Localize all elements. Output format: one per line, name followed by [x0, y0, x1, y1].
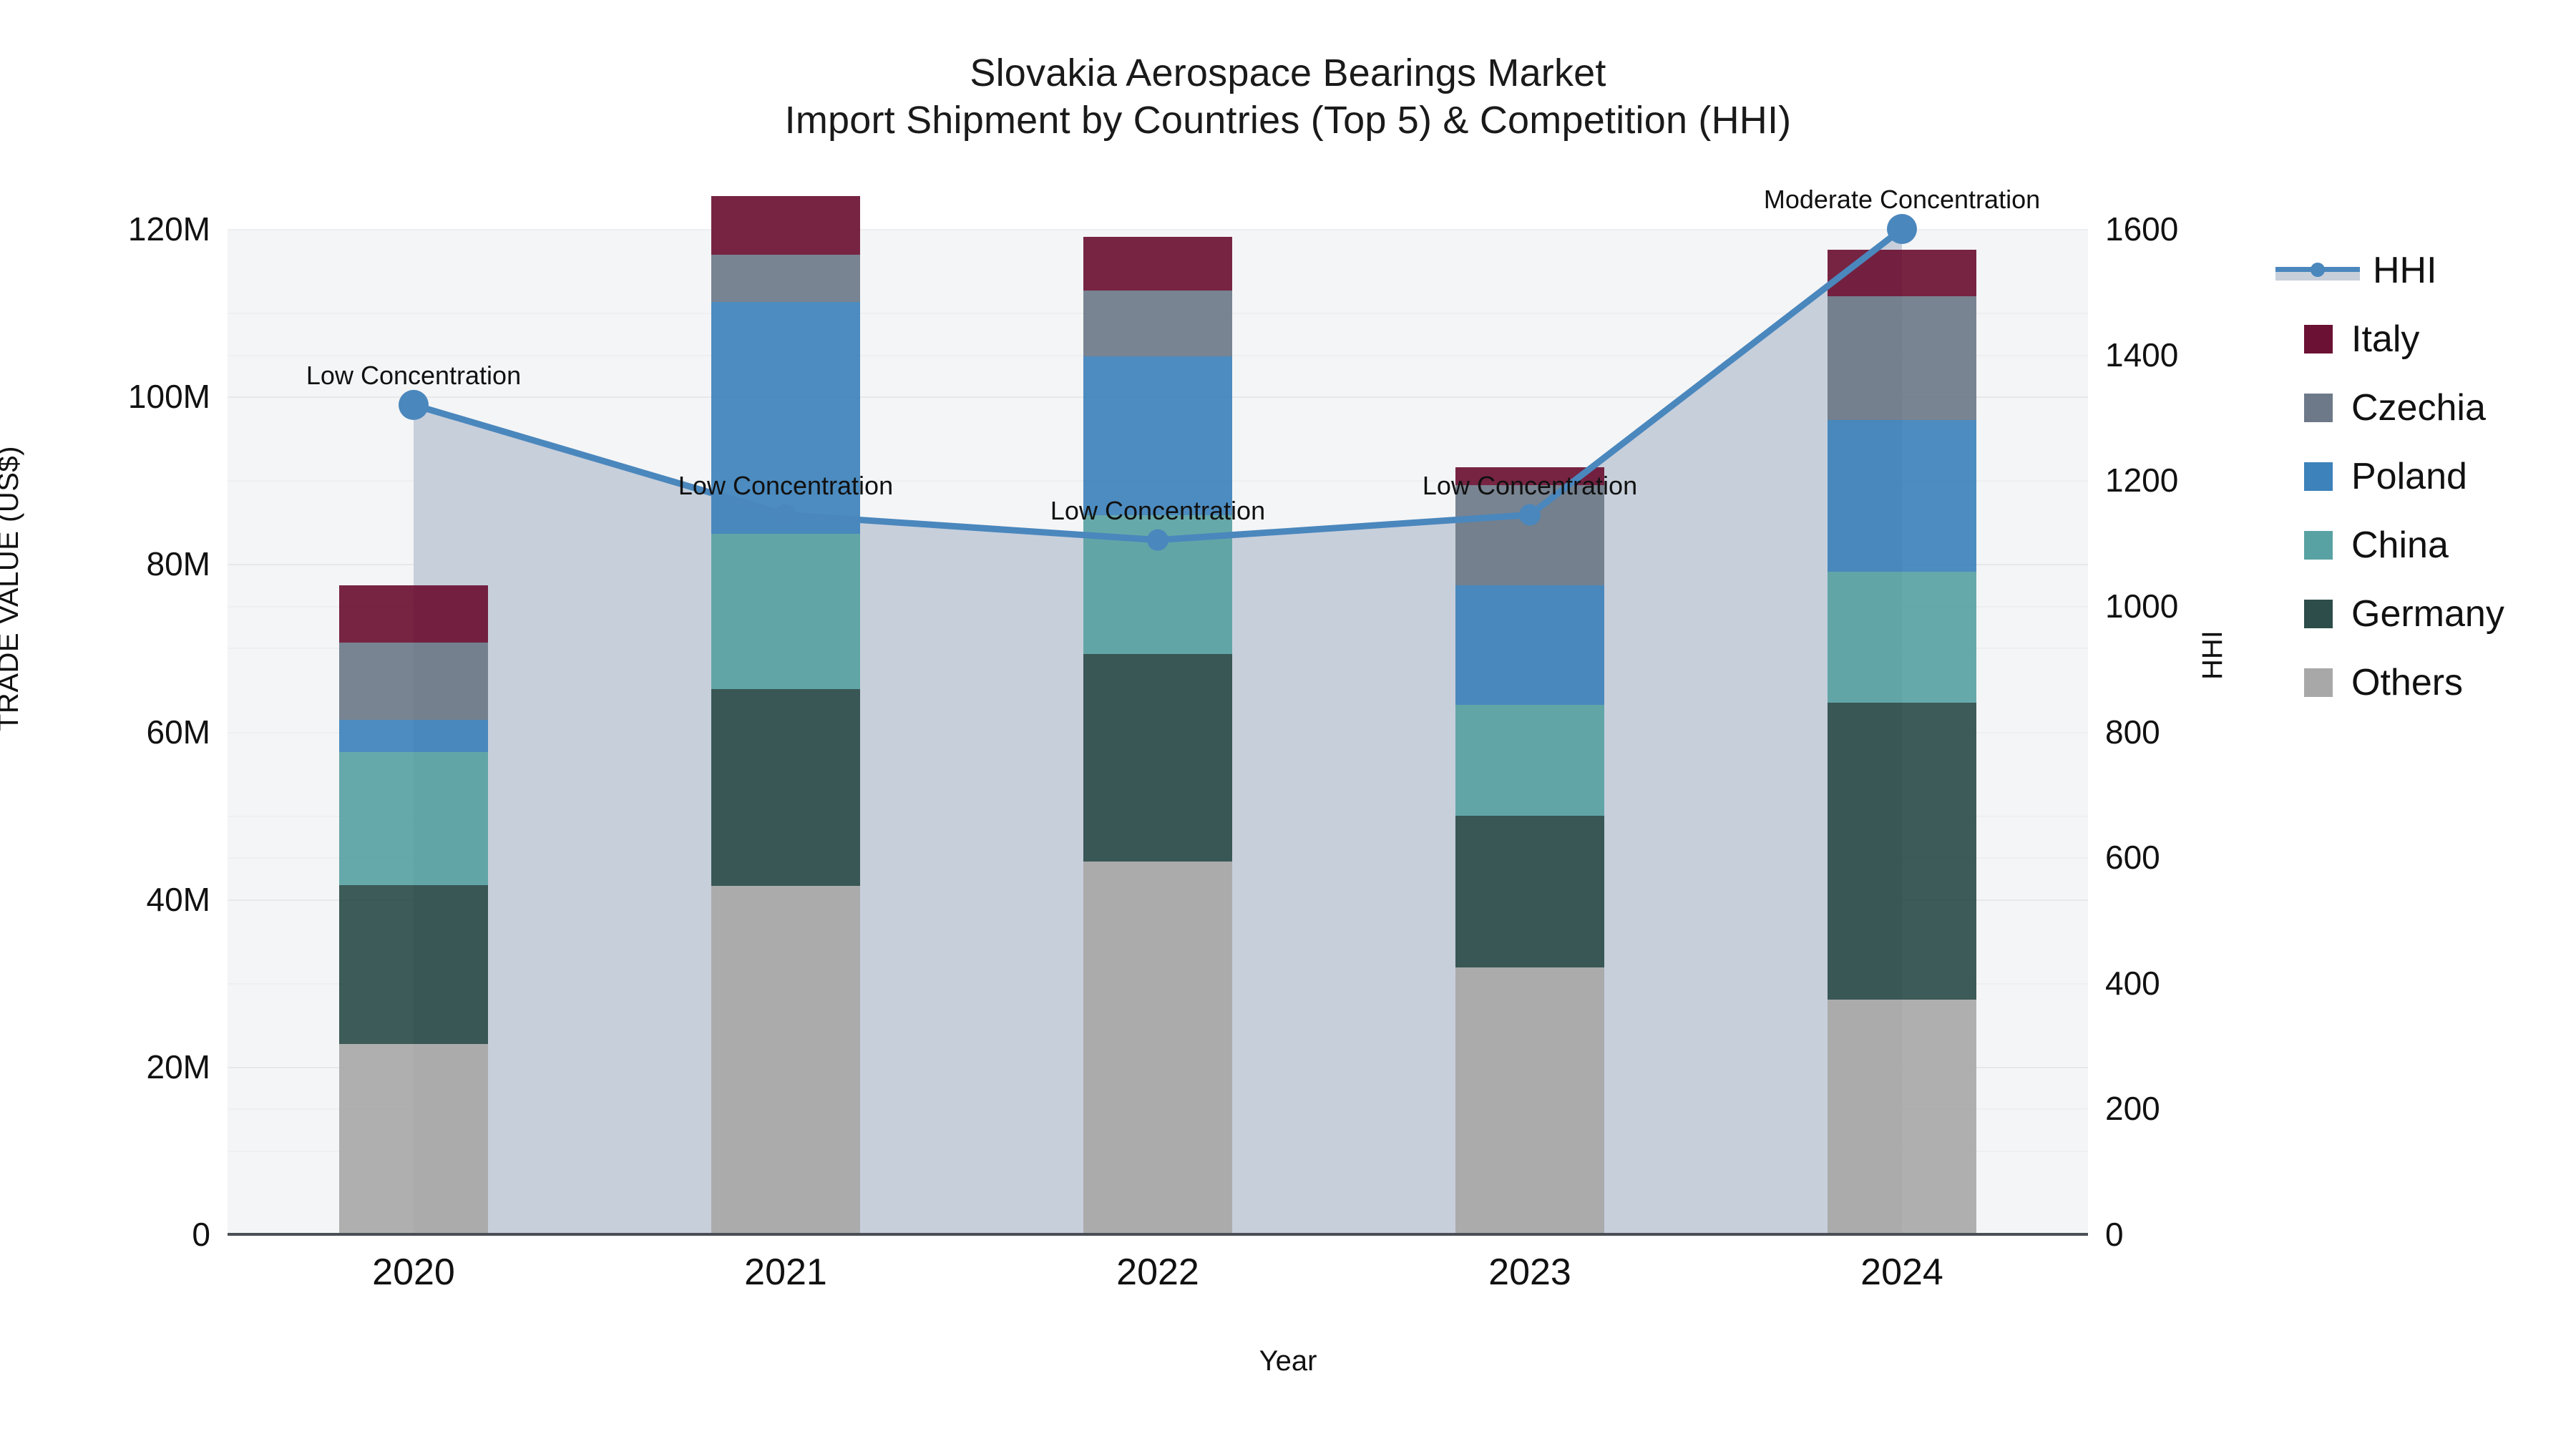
annotation-2020: Low Concentration: [306, 361, 521, 391]
annotation-2021: Low Concentration: [678, 471, 893, 501]
legend-item-label: Italy: [2351, 318, 2419, 361]
bar-segment-italy[interactable]: [1828, 250, 1976, 296]
legend-item-germany[interactable]: Germany: [2275, 580, 2562, 648]
y-axis-left-tick-label: 60M: [0, 713, 210, 751]
legend-item-label: China: [2351, 524, 2449, 567]
bar-segment-czechia[interactable]: [339, 643, 488, 720]
bar-segment-poland[interactable]: [1455, 585, 1604, 705]
legend-item-poland[interactable]: Poland: [2275, 442, 2562, 511]
legend-item-label: Germany: [2351, 592, 2504, 635]
bar-segment-czechia[interactable]: [1828, 296, 1976, 420]
bar-segment-germany[interactable]: [1455, 816, 1604, 967]
annotation-2023: Low Concentration: [1423, 471, 1637, 501]
bar-segment-china[interactable]: [1455, 705, 1604, 816]
chart-title: Slovakia Aerospace Bearings Market Impor…: [0, 50, 2576, 145]
legend-item-label: HHI: [2373, 249, 2437, 292]
y-axis-right-tick-label: 200: [2105, 1089, 2160, 1128]
y-axis-right-title: HHI: [2197, 630, 2229, 680]
legend-item-hhi[interactable]: HHI: [2275, 236, 2562, 305]
x-axis-tick-label-2023: 2023: [1488, 1251, 1571, 1294]
stacked-bar-2023[interactable]: [1455, 467, 1604, 1234]
stacked-bar-2022[interactable]: [1083, 237, 1232, 1234]
chart-legend: HHIItalyCzechiaPolandChinaGermanyOthers: [2275, 236, 2562, 717]
y-axis-left-title: TRADE VALUE (US$): [0, 446, 25, 731]
bar-segment-china[interactable]: [711, 534, 860, 689]
y-axis-right-tick-label: 600: [2105, 838, 2160, 877]
legend-color-swatch: [2304, 325, 2333, 353]
annotation-2022: Low Concentration: [1050, 496, 1265, 526]
bar-segment-italy[interactable]: [711, 196, 860, 255]
bar-segment-china[interactable]: [1828, 572, 1976, 703]
legend-item-label: Czechia: [2351, 386, 2486, 429]
stacked-bar-2020[interactable]: [339, 585, 488, 1234]
bar-segment-china[interactable]: [1083, 515, 1232, 653]
legend-color-swatch: [2304, 668, 2333, 697]
bar-segment-others[interactable]: [1083, 862, 1232, 1234]
bar-segment-others[interactable]: [1455, 967, 1604, 1234]
bar-segment-others[interactable]: [1828, 1000, 1976, 1234]
y-axis-right-tick-label: 0: [2105, 1215, 2124, 1254]
x-axis-title: Year: [0, 1345, 2576, 1377]
legend-item-china[interactable]: China: [2275, 511, 2562, 580]
bar-segment-poland[interactable]: [1828, 420, 1976, 572]
legend-item-italy[interactable]: Italy: [2275, 305, 2562, 374]
y-axis-right-tick-label: 1400: [2105, 336, 2178, 374]
legend-line-swatch: [2275, 256, 2360, 285]
x-axis-tick-label-2022: 2022: [1116, 1251, 1199, 1294]
x-axis-tick-label-2020: 2020: [372, 1251, 455, 1294]
y-axis-left-tick-label: 80M: [0, 545, 210, 583]
bar-segment-others[interactable]: [711, 886, 860, 1234]
bar-segment-china[interactable]: [339, 752, 488, 885]
legend-item-label: Others: [2351, 661, 2463, 704]
y-axis-right-tick-label: 800: [2105, 713, 2160, 751]
bar-segment-others[interactable]: [339, 1044, 488, 1234]
y-axis-right-tick-label: 1200: [2105, 461, 2178, 499]
legend-color-swatch: [2304, 394, 2333, 422]
legend-item-others[interactable]: Others: [2275, 648, 2562, 717]
bar-segment-germany[interactable]: [711, 689, 860, 886]
bar-segment-italy[interactable]: [1083, 237, 1232, 291]
y-axis-left-tick-label: 120M: [0, 210, 210, 248]
legend-color-swatch: [2304, 600, 2333, 628]
y-axis-right-tick-label: 400: [2105, 964, 2160, 1002]
bar-segment-germany[interactable]: [1083, 654, 1232, 862]
bar-segment-italy[interactable]: [339, 585, 488, 643]
y-axis-left-tick-label: 0: [0, 1215, 210, 1254]
chart-title-line-1: Slovakia Aerospace Bearings Market: [0, 50, 2576, 97]
y-axis-left-tick-label: 100M: [0, 377, 210, 416]
stacked-bar-2021[interactable]: [711, 196, 860, 1234]
x-axis-tick-label-2021: 2021: [744, 1251, 827, 1294]
legend-item-label: Poland: [2351, 455, 2467, 498]
x-axis-tick-label-2024: 2024: [1860, 1251, 1943, 1294]
y-axis-right-tick-label: 1000: [2105, 587, 2178, 625]
legend-color-swatch: [2304, 531, 2333, 560]
stacked-bar-2024[interactable]: [1828, 250, 1976, 1234]
annotation-2024: Moderate Concentration: [1764, 185, 2040, 215]
bar-segment-germany[interactable]: [339, 885, 488, 1044]
chart-title-line-2: Import Shipment by Countries (Top 5) & C…: [0, 97, 2576, 145]
bar-segment-poland[interactable]: [339, 720, 488, 751]
y-axis-right-tick-label: 1600: [2105, 210, 2178, 248]
bar-segment-poland[interactable]: [1083, 356, 1232, 515]
y-axis-left-tick-label: 40M: [0, 880, 210, 919]
legend-item-czechia[interactable]: Czechia: [2275, 374, 2562, 442]
bar-segment-czechia[interactable]: [711, 255, 860, 302]
y-axis-left-tick-label: 20M: [0, 1048, 210, 1086]
bar-segment-czechia[interactable]: [1083, 291, 1232, 356]
bar-segment-germany[interactable]: [1828, 703, 1976, 1000]
x-axis-line: [228, 1233, 2088, 1236]
legend-color-swatch: [2304, 462, 2333, 491]
